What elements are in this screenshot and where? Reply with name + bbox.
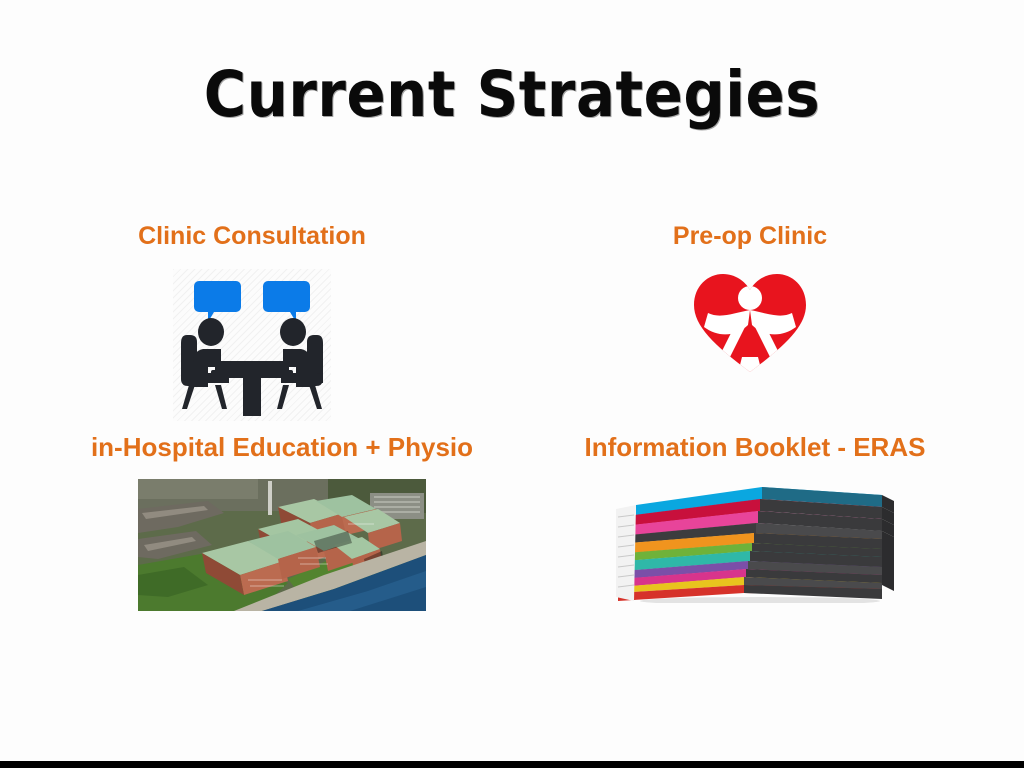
figure-head-cutout [738, 286, 762, 310]
person-right-head [280, 318, 306, 346]
consultation-icon [173, 269, 331, 421]
slide-canvas: Current Strategies Clinic Consultation [0, 0, 1024, 768]
consultation-icon-graphic [173, 269, 331, 421]
quadrant-preop-clinic: Pre-op Clinic [520, 222, 980, 432]
booklet-stack [618, 487, 894, 601]
heart-person-icon-graphic [690, 269, 810, 377]
table-top [211, 370, 293, 378]
label-preop-clinic: Pre-op Clinic [520, 222, 980, 251]
hospital-aerial-photo-graphic [138, 479, 426, 611]
booklet-stack-photo [610, 475, 900, 603]
quadrant-inhospital-education: in-Hospital Education + Physio [42, 432, 522, 642]
booklet-stack-graphic [610, 475, 900, 603]
person-right-arm [249, 361, 289, 371]
person-left-head [198, 318, 224, 346]
heart-person-icon [690, 269, 810, 377]
table-leg [243, 378, 261, 416]
label-clinic-consultation: Clinic Consultation [42, 222, 462, 251]
figure-base-cutout [738, 357, 762, 373]
speech-bubble-icon [194, 281, 310, 322]
hospital-aerial-photo [138, 479, 426, 611]
quadrant-clinic-consultation: Clinic Consultation [42, 222, 462, 432]
heart-shape [690, 269, 810, 377]
page-title: Current Strategies [0, 62, 1024, 128]
label-information-booklet: Information Booklet - ERAS [520, 432, 990, 463]
quadrant-information-booklet: Information Booklet - ERAS [520, 432, 990, 642]
label-inhospital-education: in-Hospital Education + Physio [42, 432, 522, 463]
bottom-bar [0, 761, 1024, 768]
